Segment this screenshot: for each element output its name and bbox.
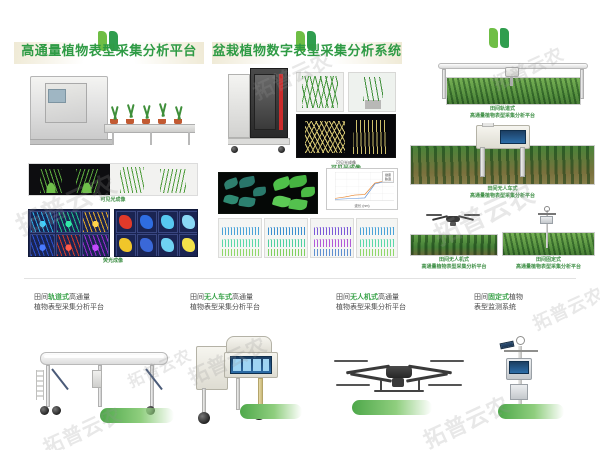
grass-sample <box>40 169 62 193</box>
spectral-reflectance-chart: 健康 胁迫 波长 (nm) <box>326 168 398 210</box>
pointcloud-band <box>268 239 306 247</box>
shadow-pill-ugv <box>240 404 302 419</box>
gantry-ladder <box>36 370 44 400</box>
tower-display <box>509 361 529 374</box>
tower-sensor-box <box>540 216 553 224</box>
plant-pot <box>158 119 166 124</box>
leaf-shape <box>238 176 255 189</box>
ugv-wheel <box>198 412 210 424</box>
gantry-wheel <box>52 406 61 415</box>
pointcloud-tile <box>218 218 262 258</box>
grass-sample <box>76 169 98 193</box>
uav-rotor <box>334 360 368 362</box>
caption-fluorescence: 荧光成像 <box>28 258 198 265</box>
title-suffix: 高通量 <box>69 293 90 301</box>
plant-pot <box>142 119 150 124</box>
pointcloud-band <box>314 249 352 256</box>
gantry-leg <box>150 365 154 407</box>
grass-sample <box>120 167 144 193</box>
uav-rotor <box>430 360 464 362</box>
uav-arm <box>406 372 448 382</box>
gantry-leg <box>442 69 446 99</box>
uav-landing-leg <box>418 380 420 391</box>
pointcloud-band <box>314 227 352 235</box>
leaf-shape <box>288 198 307 212</box>
bottom-title-uav: 田间无人机式高通量 植物表型采集分析平台 <box>336 292 476 312</box>
title-prefix: 田间 <box>474 293 488 301</box>
title-highlight: 轨道式 <box>48 293 69 301</box>
caster-wheel <box>231 146 238 153</box>
phenotyping-cabinet-photo <box>228 68 290 153</box>
uav-field-photo <box>410 202 498 256</box>
caster-wheel <box>278 146 285 153</box>
title-highlight: 无人车式 <box>204 293 232 301</box>
shadow-pill-fixed <box>498 404 564 419</box>
ugv-screen-cell <box>253 359 261 371</box>
title-prefix: 田间 <box>34 293 48 301</box>
ugv-top-camera <box>482 123 494 127</box>
uav-arm <box>458 215 474 221</box>
leaf-shape <box>223 193 239 206</box>
leaf-shape <box>253 187 267 197</box>
cabinet-accent-stripe <box>279 74 283 130</box>
root-structure <box>353 120 387 154</box>
gantry-leg <box>580 69 584 99</box>
title-suffix: 植物 <box>509 293 523 301</box>
caption-rail-line1: 田间轨道式 <box>410 106 595 113</box>
leaf-shape <box>223 177 239 190</box>
fluorescence-strip-left <box>28 209 110 257</box>
fluor-cell <box>82 211 109 233</box>
dark-background-sample <box>29 164 110 195</box>
pointcloud-tile <box>356 218 398 258</box>
pointcloud-tile <box>310 218 354 258</box>
bench-leg <box>112 132 114 145</box>
tower-solar-panel <box>500 341 515 350</box>
uav-gimbal-camera <box>392 378 404 387</box>
tower-control-box <box>510 384 528 400</box>
gantry-payload-box <box>92 370 102 388</box>
bottom-title-uav-line2: 植物表型采集分析平台 <box>336 302 476 312</box>
fluor-glyph <box>140 238 153 252</box>
chart-legend: 健康 胁迫 <box>382 171 394 183</box>
ugv-mast-left <box>480 147 485 177</box>
leaf-fluorescence-panel <box>218 172 318 214</box>
pointcloud-band <box>222 239 260 247</box>
banner-mid-title: 盆栽植物数字表型采集分析系统 <box>212 42 402 62</box>
gantry-wheel <box>40 406 49 415</box>
gantry-sensor-drop <box>510 77 513 86</box>
rail-gantry-photo <box>410 55 595 105</box>
seedling-pot <box>365 100 381 109</box>
sample-tile-grass <box>296 72 344 112</box>
field-canopy <box>502 232 595 256</box>
fluor-glyph <box>182 215 195 229</box>
caption-ugv-line1: 田间无人车式 <box>410 186 595 193</box>
section-divider <box>24 278 576 279</box>
bottom-title-fixed-line1: 田间固定式植物 <box>474 292 594 302</box>
gantry-beam <box>40 352 168 365</box>
gantry-diagonal-brace <box>145 368 163 390</box>
fluor-glyph <box>161 215 174 229</box>
ugv-screen-cell <box>233 359 241 371</box>
field-soil-rows <box>410 145 595 185</box>
caption-rail-line2: 高通量植物表型采集分析平台 <box>410 113 595 120</box>
growth-chamber <box>30 76 108 142</box>
caption-fixed-line2: 高通量植物表型采集分析平台 <box>500 264 597 271</box>
bottom-title-uav-line1: 田间无人机式高通量 <box>336 292 476 302</box>
title-highlight: 固定式 <box>488 293 509 301</box>
gantry-diagonal-brace <box>51 368 69 390</box>
leaf-logo-icon <box>489 28 511 48</box>
pointcloud-band <box>268 249 306 256</box>
field-rows <box>410 234 498 256</box>
poster-root: 拓普云农 拓普云农 拓普云农 拓普云农 拓普云农 拓普云农 拓普云农 拓普云农 … <box>0 0 600 450</box>
chamber-base <box>30 139 113 145</box>
fluorescence-strip-right <box>114 209 198 257</box>
caption-uav-line1: 田间无人机式 <box>410 257 498 264</box>
cabinet-door-panel <box>254 74 276 130</box>
chamber-window <box>48 89 66 103</box>
fluor-cell <box>82 234 109 257</box>
leaf-shape <box>301 187 316 198</box>
ugv-screen-cell <box>263 359 269 371</box>
cabinet-base <box>228 138 290 145</box>
pointcloud-band <box>222 249 260 256</box>
title-prefix: 田间 <box>190 293 204 301</box>
seedling-plant <box>363 77 383 101</box>
ugv-control-screen <box>500 130 526 144</box>
field-canopy <box>446 77 581 105</box>
fluor-cell <box>56 234 81 257</box>
title-highlight: 无人机式 <box>350 293 378 301</box>
bottom-title-fixed-line2: 表型监测系统 <box>474 302 594 312</box>
bench-leg <box>150 132 152 145</box>
banner-left-title: 高通量植物表型采集分析平台 <box>14 42 204 62</box>
tower-anemometer-icon <box>544 206 550 212</box>
pointcloud-band <box>222 227 260 235</box>
title-suffix: 高通量 <box>232 293 253 301</box>
uav-camera-pod <box>450 222 456 226</box>
bottom-title-rail: 田间轨道式高通量 植物表型采集分析平台 <box>34 292 174 312</box>
fluor-glyph <box>119 238 132 252</box>
bench-leg <box>188 132 190 145</box>
tower-anemometer-icon <box>516 336 525 345</box>
pointcloud-band <box>314 239 352 247</box>
chart-xlabel: 波长 (nm) <box>327 204 397 209</box>
caption-ugv-line2: 高通量植物表型采集分析平台 <box>410 193 595 200</box>
uav-rotor <box>426 214 442 216</box>
fluor-cell <box>30 234 55 257</box>
fluor-glyph <box>140 215 153 229</box>
caption-uav-line2: 高通量植物表型采集分析平台 <box>408 264 500 271</box>
grass-sample <box>302 76 338 108</box>
ugv-field-photo <box>410 123 595 185</box>
shadow-pill-uav <box>352 400 432 415</box>
grass-sample <box>160 169 186 193</box>
fluor-glyph <box>119 215 132 229</box>
bottom-title-ugv-line2: 植物表型采集分析平台 <box>190 302 330 312</box>
pointcloud-band <box>360 239 396 247</box>
ugv-leg <box>236 378 240 410</box>
pointcloud-band <box>360 227 396 235</box>
pointcloud-band <box>360 249 396 256</box>
root-structure <box>305 121 345 153</box>
leaf-shape <box>288 175 307 188</box>
bottom-title-ugv-line1: 田间无人车式高通量 <box>190 292 330 302</box>
banner-mid: 盆栽植物数字表型采集分析系统 <box>212 42 402 64</box>
light-background-sample <box>110 164 197 195</box>
legend-item-1: 胁迫 <box>385 177 391 181</box>
ugv-screen-cell <box>243 359 251 371</box>
bottom-title-rail-line1: 田间轨道式高通量 <box>34 292 174 302</box>
gantry-beam-highlight <box>44 355 164 358</box>
title-prefix: 田间 <box>336 293 350 301</box>
uav-rotor <box>336 384 370 386</box>
ugv-mast-right <box>520 147 525 177</box>
fluor-cell <box>56 211 81 233</box>
banner-left: 高通量植物表型采集分析平台 <box>14 42 204 64</box>
shadow-pill-rail <box>100 408 174 423</box>
pointcloud-band <box>268 227 306 235</box>
fluor-glyph <box>182 238 195 252</box>
bottom-title-fixed: 田间固定式植物 表型监测系统 <box>474 292 594 312</box>
bottom-title-ugv: 田间无人车式高通量 植物表型采集分析平台 <box>190 292 330 312</box>
uav-landing-leg <box>380 380 382 391</box>
fluor-cell <box>30 211 55 233</box>
caption-visible-light: 可见光成像 <box>28 197 198 204</box>
tower-crossarm <box>538 213 556 215</box>
uav-rotor <box>464 214 480 216</box>
cabinet-left-module <box>228 74 250 138</box>
tower-crossarm <box>504 350 538 352</box>
plant-pot <box>126 119 134 124</box>
leaf-shape <box>238 196 255 209</box>
caption-fixed-line1: 田间固定式 <box>502 257 595 264</box>
sample-tile-seedling <box>348 72 396 112</box>
title-suffix: 高通量 <box>378 293 399 301</box>
gantry-sensor-cart <box>505 67 519 77</box>
gantry-leg <box>46 365 50 407</box>
chamber-photo <box>30 72 195 152</box>
uav-center-body <box>386 366 412 378</box>
pointcloud-tile <box>264 218 308 258</box>
bottom-title-rail-line2: 植物表型采集分析平台 <box>34 302 174 312</box>
visible-light-strip <box>28 163 198 196</box>
fluor-glyph <box>161 238 174 252</box>
root-scan-tile <box>296 114 396 158</box>
fixed-tower-photo <box>502 202 595 256</box>
uav-rotor <box>428 384 462 386</box>
